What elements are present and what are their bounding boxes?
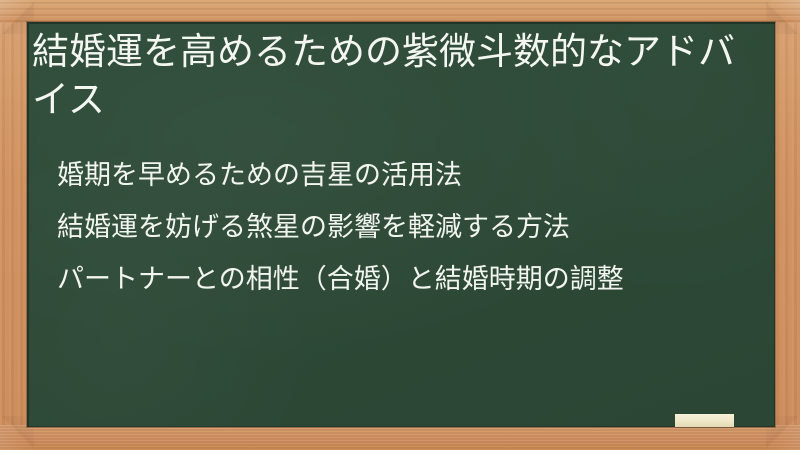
bullet-item-1: 婚期を早めるための吉星の活用法 bbox=[57, 150, 757, 202]
frame-bottom-rail bbox=[0, 425, 800, 450]
slide-stage: 結婚運を高めるための紫微斗数的なアドバイス 婚期を早めるための吉星の活用法 結婚… bbox=[0, 0, 800, 450]
bullet-list: 婚期を早めるための吉星の活用法 結婚運を妨げる煞星の影響を軽減する方法 パートナ… bbox=[57, 150, 757, 306]
bullet-item-3: パートナーとの相性（合婚）と結婚時期の調整 bbox=[57, 254, 757, 306]
frame-top-rail bbox=[0, 0, 800, 23]
chalk-stick-icon bbox=[675, 414, 734, 427]
bullet-item-2: 結婚運を妨げる煞星の影響を軽減する方法 bbox=[57, 202, 757, 254]
slide-title: 結婚運を高めるための紫微斗数的なアドバイス bbox=[32, 28, 746, 124]
chalkboard-surface: 結婚運を高めるための紫微斗数的なアドバイス 婚期を早めるための吉星の活用法 結婚… bbox=[27, 22, 775, 427]
slide-content: 結婚運を高めるための紫微斗数的なアドバイス 婚期を早めるための吉星の活用法 結婚… bbox=[27, 22, 775, 427]
